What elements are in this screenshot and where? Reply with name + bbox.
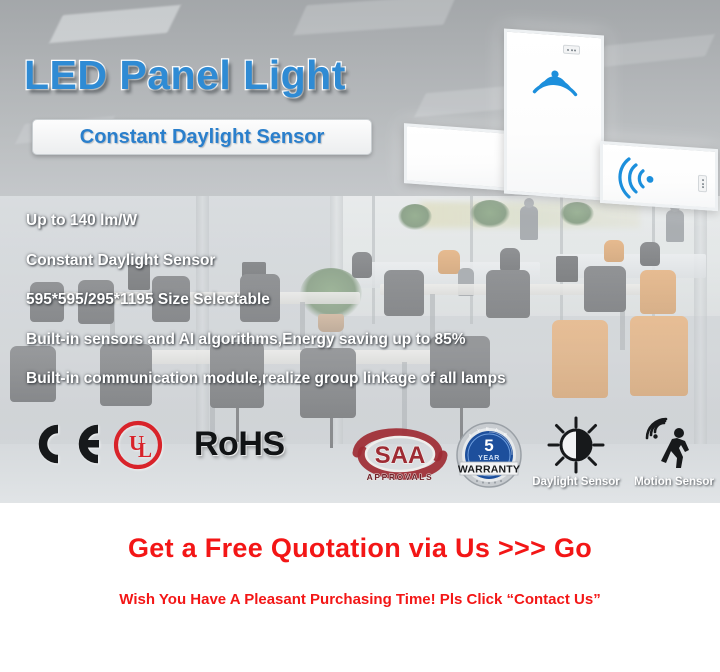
footer-cta-section: Get a Free Quotation via Us >>> Go Wish … xyxy=(0,503,720,672)
page-title: LED Panel Light xyxy=(24,52,346,99)
feature-list: Up to 140 lm/W Constant Daylight Sensor … xyxy=(26,212,686,410)
signal-wave-icon xyxy=(617,155,661,202)
subtitle-badge-label: Constant Daylight Sensor xyxy=(80,126,324,149)
svg-text:SAA: SAA xyxy=(375,442,426,469)
svg-text:5: 5 xyxy=(484,436,493,455)
contact-us-note[interactable]: Wish You Have A Pleasant Purchasing Time… xyxy=(0,591,720,608)
feature-item: Up to 140 lm/W xyxy=(26,212,686,229)
motion-sensor-icon xyxy=(628,415,720,475)
subtitle-badge: Constant Daylight Sensor xyxy=(32,119,372,155)
led-panel-light-banner: LED Panel Light Constant Daylight Sensor… xyxy=(0,0,720,672)
saa-mark-icon: SAA APPROVALS xyxy=(345,423,455,485)
daylight-sensor-feature: Daylight Sensor xyxy=(530,415,622,488)
svg-text:L: L xyxy=(138,438,152,462)
ce-mark-icon xyxy=(28,423,106,465)
daylight-sensor-icon xyxy=(530,415,622,475)
svg-text:WARRANTY: WARRANTY xyxy=(458,464,520,476)
feature-item: Built-in sensors and AI algorithms,Energ… xyxy=(26,331,686,348)
ul-mark-icon: U L xyxy=(112,419,164,471)
led-panel-center xyxy=(504,29,604,201)
motion-sensor-feature: Motion Sensor xyxy=(628,415,720,488)
sensor-chip-icon xyxy=(563,45,580,55)
feature-item: Constant Daylight Sensor xyxy=(26,252,686,269)
rohs-mark-label: RoHS xyxy=(194,425,285,464)
svg-text:Y: Y xyxy=(477,428,480,433)
motion-sensor-label: Motion Sensor xyxy=(628,476,720,488)
svg-text:YEAR: YEAR xyxy=(478,455,500,462)
led-panel-left xyxy=(404,123,509,191)
svg-text:APPROVALS: APPROVALS xyxy=(367,472,434,482)
sensor-chip-icon xyxy=(698,175,707,193)
svg-text:E: E xyxy=(486,426,489,431)
signal-wave-icon xyxy=(529,60,581,100)
certification-row: U L RoHS SAA APPROVALS xyxy=(0,405,720,500)
feature-item: Built-in communication module,realize gr… xyxy=(26,370,686,387)
daylight-sensor-label: Daylight Sensor xyxy=(530,476,622,488)
hero-photo-section: LED Panel Light Constant Daylight Sensor… xyxy=(0,0,720,503)
svg-text:R: R xyxy=(504,432,507,437)
quotation-cta-link[interactable]: Get a Free Quotation via Us >>> Go xyxy=(0,533,720,564)
warranty-seal-icon: 5 YEAR WARRANTY 5YE AR xyxy=(455,421,523,489)
feature-item: 595*595/295*1195 Size Selectable xyxy=(26,291,686,308)
led-panel-right xyxy=(600,141,718,211)
svg-text:A: A xyxy=(495,427,498,432)
